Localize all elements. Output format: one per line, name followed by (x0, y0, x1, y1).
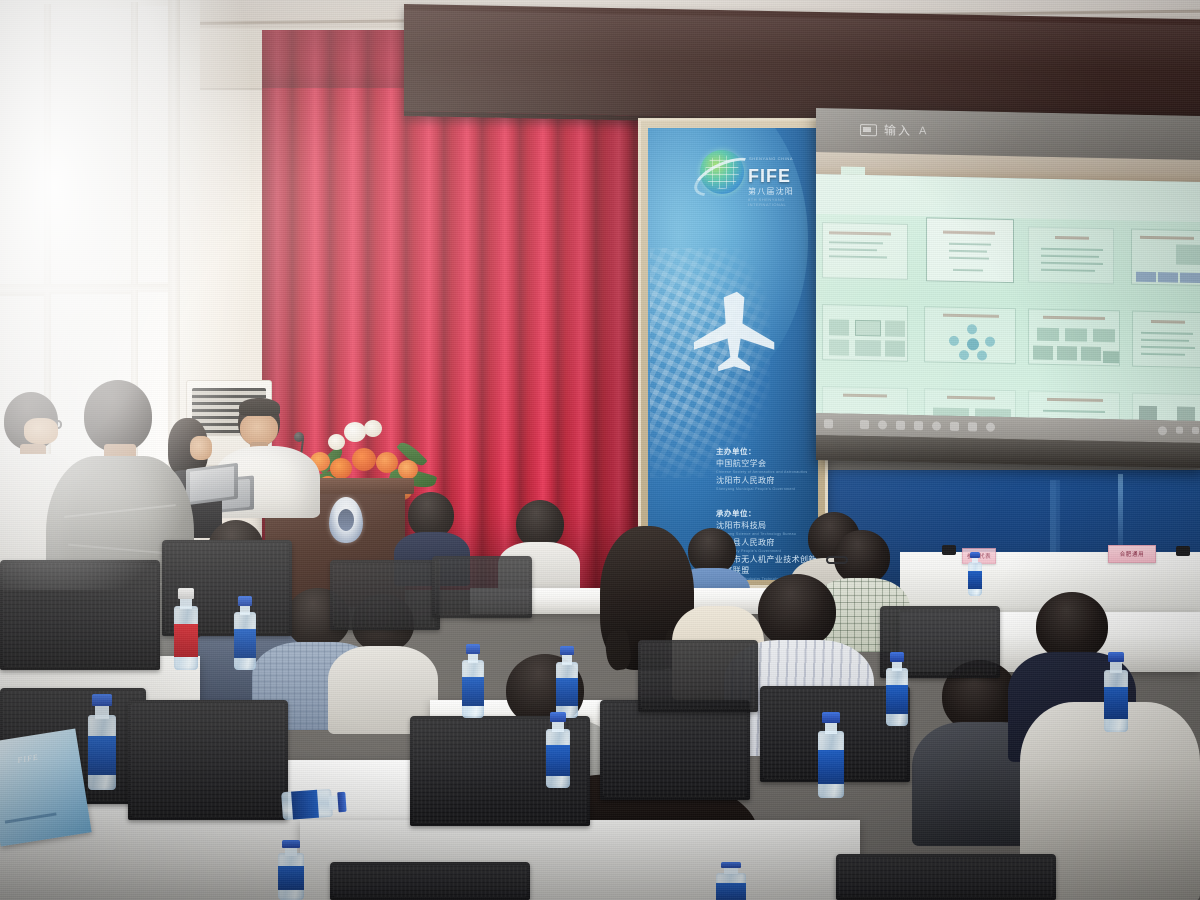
water-bottle (462, 644, 484, 718)
water-bottle (234, 596, 256, 670)
slide-thumbnail-selected (926, 217, 1014, 283)
powerpoint-icon[interactable] (968, 422, 977, 431)
banner-subtitle-en: 8TH SHENYANG INTERNATIONAL (748, 197, 818, 207)
organizer-cn-0: 中国航空学会 (716, 458, 807, 469)
taskview-icon[interactable] (896, 421, 905, 430)
powerpoint-canvas (816, 174, 1200, 421)
zoom-icon[interactable] (986, 423, 995, 432)
chair (600, 700, 750, 800)
banner-organizers-block: 主办单位： 中国航空学会 Chinese Society of Aeronaut… (716, 446, 807, 492)
water-bottle (968, 552, 982, 596)
slide-thumbnail (1131, 229, 1200, 287)
water-bottle (818, 712, 844, 798)
banner-subtitle-cn: 第八届沈阳 (748, 186, 794, 197)
banner-logo-text: FIFE (748, 166, 791, 187)
slide-thumbnail (822, 222, 908, 280)
keyboard-icon (860, 123, 877, 135)
chair (0, 560, 160, 670)
network-icon[interactable] (1158, 426, 1167, 435)
organizer-cn-1: 沈阳市人民政府 (716, 475, 807, 486)
staff-laptop-screen (190, 466, 234, 501)
ime-mode-label: A (919, 125, 926, 137)
conference-brochure[interactable]: FIFE (0, 728, 92, 846)
slide-thumbnail (1132, 311, 1200, 369)
tray-ime-icon[interactable] (1192, 427, 1199, 434)
chair (638, 640, 758, 712)
volume-icon[interactable] (1176, 427, 1183, 434)
start-icon[interactable] (824, 419, 833, 428)
slide-thumbnail (1028, 308, 1120, 366)
brochure-title: FIFE (17, 753, 39, 765)
edge-icon[interactable] (932, 421, 941, 430)
water-bottle (716, 862, 746, 900)
explorer-icon[interactable] (914, 421, 923, 430)
conference-hall-photo: SHENYANG CHINA FIFE 第八届沈阳 8TH SHENYANG I… (0, 0, 1200, 900)
backdrop-tower-graphic (1118, 474, 1123, 548)
water-bottle (886, 652, 908, 726)
water-bottle (1104, 652, 1128, 732)
organizer-en-0: Chinese Society of Aeronautics and Astro… (716, 470, 807, 474)
eyeglasses-icon (826, 556, 848, 564)
institution-crest-icon (329, 497, 363, 543)
water-bottle (88, 694, 116, 790)
chair (330, 560, 440, 630)
organizers-heading: 主办单位： (716, 446, 807, 457)
water-bottle (546, 712, 570, 788)
slide-thumbnail (1028, 226, 1114, 284)
name-card: 合肥通用 (1108, 545, 1156, 563)
ime-indicator: 输入 A (860, 121, 926, 139)
water-bottle (174, 588, 198, 670)
organizer-en-1: Shenyang Municipal People's Government (716, 487, 807, 491)
canvas-header-strip (816, 174, 1200, 222)
chair (330, 862, 530, 900)
cortana-icon[interactable] (878, 420, 887, 429)
slide-thumbnail (822, 304, 908, 362)
projection-screen: 输入 A (816, 108, 1200, 468)
water-bottle (556, 646, 578, 718)
airplane-icon (688, 288, 782, 374)
water-bottle (278, 840, 304, 900)
table-microphone (1176, 546, 1190, 556)
search-icon[interactable] (860, 420, 869, 429)
water-bottle (281, 788, 347, 820)
banner-logo-en-top: SHENYANG CHINA (749, 156, 793, 161)
chair (128, 700, 288, 820)
mail-icon[interactable] (950, 422, 959, 431)
table-microphone (942, 545, 956, 555)
ime-label: 输入 (884, 121, 912, 139)
chair (836, 854, 1056, 900)
brochure-footer-line (5, 812, 57, 823)
chair (432, 556, 532, 618)
slide-thumbnail (924, 306, 1016, 364)
